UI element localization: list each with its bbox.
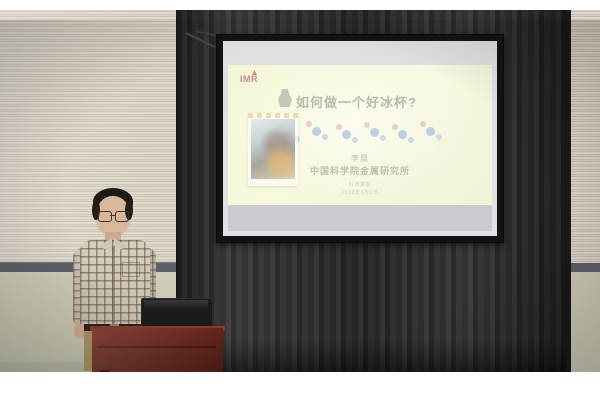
curtain-bottom-shadow (176, 340, 570, 372)
slide-presenter-name: 李晨 (228, 153, 492, 164)
slide-subtitle: 科普讲座 (228, 181, 492, 188)
projection-screen: IMR 如何做一个好冰杯? 李晨 (216, 34, 504, 243)
lecture-hall-scene: IMR 如何做一个好冰杯? 李晨 (0, 10, 600, 372)
presentation-slide: IMR 如何做一个好冰杯? 李晨 (228, 65, 492, 205)
photo-top-edge (248, 113, 298, 118)
slide-title: 如何做一个好冰杯? (296, 92, 486, 111)
podium-shading (92, 328, 223, 372)
right-wall-baseboard (571, 263, 600, 272)
screen-lower-band (228, 205, 492, 231)
letterbox-top (0, 0, 600, 10)
glasses-bridge-icon (110, 215, 115, 216)
slide-date: 2018年5月9日 (228, 189, 492, 196)
photograph: IMR 如何做一个好冰杯? 李晨 (0, 0, 600, 400)
glasses-right-lens-icon (115, 211, 129, 222)
letterbox-bottom (0, 372, 600, 400)
glasses-left-lens-icon (98, 211, 112, 222)
shirt-pocket (122, 262, 140, 277)
laptop-screen-reflection (144, 300, 208, 310)
slide-organization: 中国科学院金属研究所 (228, 164, 492, 177)
water-molecule-graphic (272, 120, 452, 144)
shirt-placket (112, 246, 115, 326)
checkered-shirt-torso (80, 240, 150, 328)
imr-logo: IMR (240, 74, 258, 84)
screen-surface: IMR 如何做一个好冰杯? 李晨 (223, 41, 497, 236)
right-lower-wall (571, 272, 600, 372)
